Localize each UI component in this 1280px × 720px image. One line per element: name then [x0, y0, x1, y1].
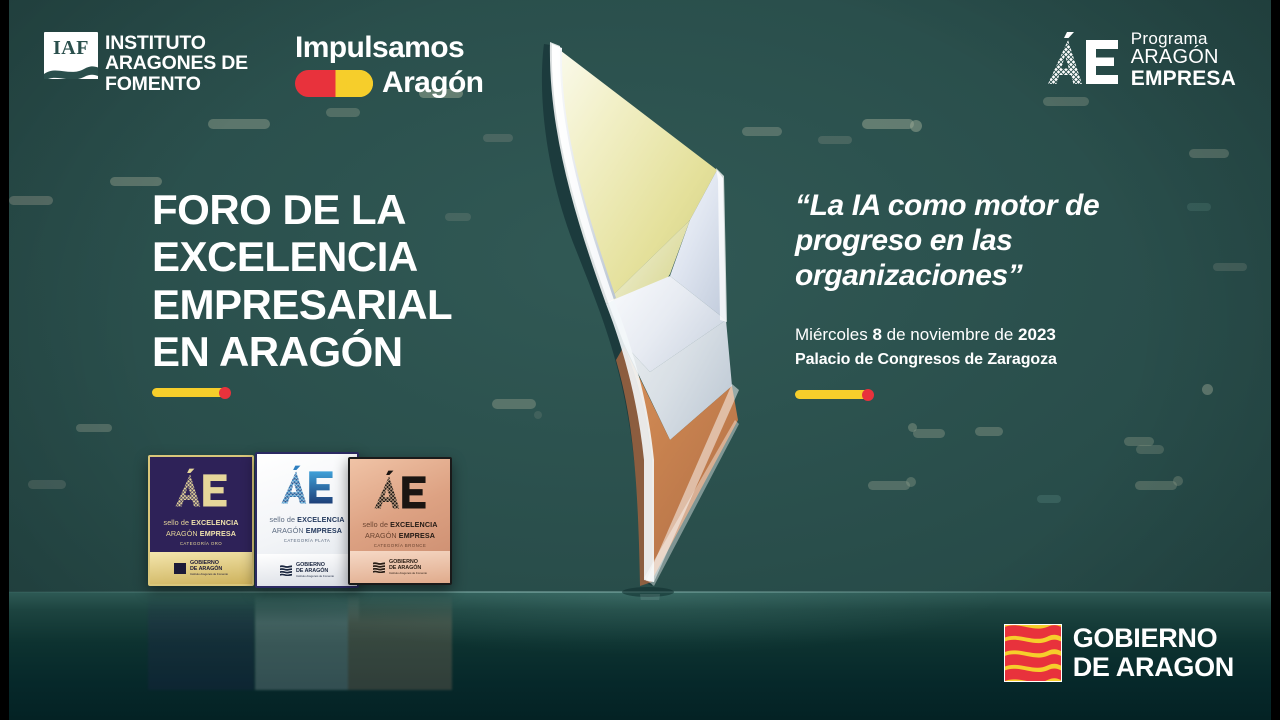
plaque-bronce-footer-text: GOBIERNO DE ARAGÓN Instituto Aragonés de… — [389, 559, 427, 576]
plaque-plata-line2b: EMPRESA — [306, 526, 342, 535]
trophy-svg — [520, 20, 770, 600]
gobierno-wordmark: GOBIERNO DE ARAGON — [1073, 624, 1234, 681]
headline-line-2: EXCELENCIA — [152, 233, 452, 280]
plaque-plata-gobsub: Instituto Aragonés de Fomento — [296, 574, 334, 578]
letterbox-right — [1271, 0, 1280, 720]
plaque-plata-line2: ARAGÓN EMPRESA — [272, 526, 342, 535]
iaf-line1: INSTITUTO — [105, 33, 248, 53]
iaf-wordmark: INSTITUTO ARAGONES DE FOMENTO — [105, 32, 248, 94]
logo-impulsamos-aragon[interactable]: Impulsamos Aragón — [295, 33, 483, 98]
plaque-oro-footer-text: GOBIERNO DE ARAGÓN Instituto Aragonés de… — [190, 560, 228, 577]
plaque-plata-footer-text: GOBIERNO DE ARAGÓN Instituto Aragonés de… — [296, 562, 334, 579]
event-date-year: 2023 — [1018, 325, 1056, 344]
event-meta: Miércoles 8 de noviembre de 2023 Palacio… — [795, 322, 1057, 372]
ae-monogram-icon — [1046, 32, 1120, 88]
event-theme-quote: “La IA como motor de progreso en las org… — [795, 188, 1125, 293]
plaque-bronce[interactable]: sello de EXCELENCIA ARAGÓN EMPRESA CATEG… — [348, 457, 452, 585]
plaque-oro[interactable]: sello de EXCELENCIA ARAGÓN EMPRESA CATEG… — [148, 455, 254, 586]
aragon-flag-icon — [1004, 624, 1062, 682]
plaque-bronce-category: CATEGORÍA BRONCE — [374, 543, 427, 548]
gobierno-line2: DE ARAGON — [1073, 653, 1234, 682]
iaf-badge-label: IAF — [53, 38, 89, 58]
impulsamos-line1: Impulsamos — [295, 33, 483, 63]
iaf-badge: IAF — [44, 32, 98, 79]
trophy-sculpture — [520, 20, 770, 600]
plaque-bronce-line2a: ARAGÓN — [365, 531, 399, 540]
gobierno-mini-flag-icon — [373, 562, 385, 573]
plaque-oro-gob2: DE ARAGÓN — [190, 566, 228, 572]
plaque-bronce-line2b: EMPRESA — [399, 531, 435, 540]
plaque-plata-body: sello de EXCELENCIA ARAGÓN EMPRESA CATEG… — [257, 454, 357, 554]
plaque-reflections — [148, 594, 458, 690]
plaque-bronce-gob2: DE ARAGÓN — [389, 565, 427, 571]
logo-programa-aragon-empresa[interactable]: Programa ARAGÓN EMPRESA — [1046, 30, 1236, 89]
plaque-bronce-body: sello de EXCELENCIA ARAGÓN EMPRESA CATEG… — [350, 459, 450, 551]
plaque-oro-line1: sello de EXCELENCIA — [164, 518, 239, 527]
ae-word-programa: Programa — [1131, 30, 1236, 47]
event-date: Miércoles 8 de noviembre de 2023 — [795, 322, 1057, 348]
plaque-bronce-line1: sello de EXCELENCIA — [363, 520, 438, 529]
plaque-bronce-gobsub: Instituto Aragonés de Fomento — [389, 571, 427, 575]
letterbox-left — [0, 0, 9, 720]
headline-line-4: EN ARAGÓN — [152, 328, 452, 375]
plaque-oro-line1b: EXCELENCIA — [191, 518, 238, 527]
headline-line-1: FORO DE LA — [152, 186, 452, 233]
plaque-oro-line2a: ARAGÓN — [166, 529, 200, 538]
logo-gobierno-de-aragon[interactable]: GOBIERNO DE ARAGON — [1004, 624, 1234, 682]
plaque-bronce-line1a: sello de — [363, 520, 391, 529]
plaque-bronce-footer: GOBIERNO DE ARAGÓN Instituto Aragonés de… — [350, 551, 450, 583]
plaque-plata-line1a: sello de — [270, 515, 298, 524]
page-title: FORO DE LA EXCELENCIA EMPRESARIAL EN ARA… — [152, 186, 452, 376]
gobierno-line1: GOBIERNO — [1073, 624, 1234, 653]
plaque-oro-line2: ARAGÓN EMPRESA — [166, 529, 236, 538]
award-plaques-group: sello de EXCELENCIA ARAGÓN EMPRESA CATEG… — [148, 452, 458, 594]
plaque-plata-line1: sello de EXCELENCIA — [270, 515, 345, 524]
plaque-plata-footer: GOBIERNO DE ARAGÓN Instituto Aragonés de… — [257, 554, 357, 586]
plaque-plata-line1b: EXCELENCIA — [297, 515, 344, 524]
plaque-bronce-line2: ARAGÓN EMPRESA — [365, 531, 435, 540]
plaque-oro-line1a: sello de — [164, 518, 192, 527]
plaque-oro-body: sello de EXCELENCIA ARAGÓN EMPRESA CATEG… — [150, 457, 252, 552]
accent-divider-right — [795, 390, 870, 399]
plaque-plata-gob2: DE ARAGÓN — [296, 568, 334, 574]
event-date-mid: de noviembre de — [882, 325, 1018, 344]
impulsamos-line2: Aragón — [382, 68, 483, 98]
headline-line-3: EMPRESARIAL — [152, 281, 452, 328]
iaf-line2: ARAGONES DE — [105, 53, 248, 73]
plaque-bronce-ae-icon — [373, 467, 427, 515]
event-date-prefix: Miércoles — [795, 325, 872, 344]
aragon-pill-icon — [295, 70, 373, 97]
gobierno-mini-flag-icon — [174, 563, 186, 574]
plaque-oro-ae-icon — [174, 465, 228, 513]
plaque-plata-ae-icon — [280, 462, 334, 510]
ae-wordmark: Programa ARAGÓN EMPRESA — [1131, 30, 1236, 89]
iaf-wave-icon — [44, 63, 98, 79]
plaque-plata-category: CATEGORÍA PLATA — [284, 538, 331, 543]
plaque-oro-line2b: EMPRESA — [200, 529, 236, 538]
event-date-day: 8 — [872, 325, 881, 344]
event-venue: Palacio de Congresos de Zaragoza — [795, 348, 1057, 372]
plaque-oro-category: CATEGORÍA ORO — [180, 541, 222, 546]
iaf-line3: FOMENTO — [105, 74, 248, 94]
plaque-plata-line2a: ARAGÓN — [272, 526, 306, 535]
logo-instituto-aragones-fomento[interactable]: IAF INSTITUTO ARAGONES DE FOMENTO — [44, 32, 248, 94]
plaque-oro-gobsub: Instituto Aragonés de Fomento — [190, 572, 228, 576]
gobierno-mini-flag-icon — [280, 565, 292, 576]
accent-divider-left — [152, 388, 227, 397]
impulsamos-line2-row: Aragón — [295, 68, 483, 98]
poster-canvas: IAF INSTITUTO ARAGONES DE FOMENTO Impuls… — [0, 0, 1280, 720]
plaque-oro-footer: GOBIERNO DE ARAGÓN Instituto Aragonés de… — [150, 552, 252, 584]
ae-word-empresa: EMPRESA — [1131, 68, 1236, 89]
ae-word-aragon: ARAGÓN — [1131, 47, 1236, 67]
plaque-plata[interactable]: sello de EXCELENCIA ARAGÓN EMPRESA CATEG… — [255, 452, 359, 588]
plaque-bronce-line1b: EXCELENCIA — [390, 520, 437, 529]
